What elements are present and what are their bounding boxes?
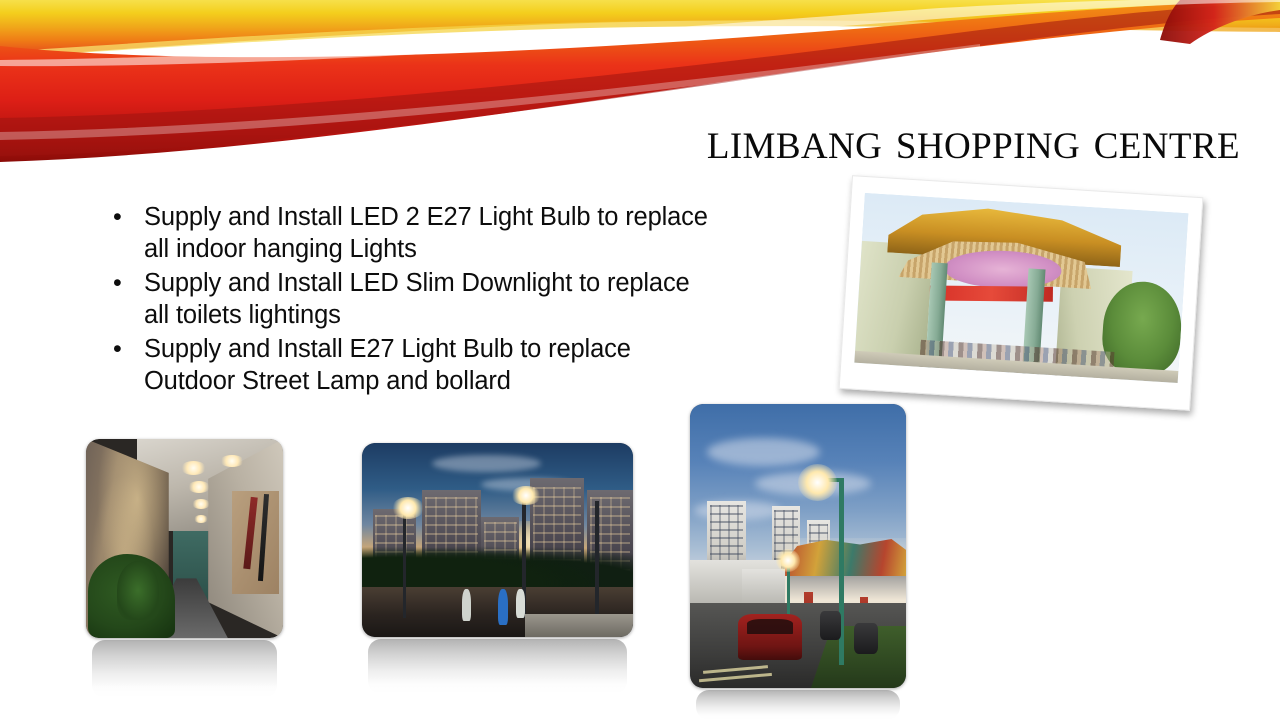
bullet-marker: •	[113, 267, 122, 299]
ceiling-downlight	[181, 461, 207, 475]
street-lamp-light	[392, 497, 425, 518]
pallet-stack	[525, 614, 633, 637]
temple-roof	[785, 538, 906, 577]
page-title: Limbang Shopping Centre	[440, 112, 1240, 170]
indoor-corridor-photo	[86, 439, 283, 638]
low-rise-building	[742, 569, 790, 606]
street-temple-image	[690, 404, 906, 688]
ceiling-downlight	[188, 481, 210, 493]
bullet-marker: •	[113, 201, 122, 233]
bullet-list: • Supply and Install LED 2 E27 Light Bul…	[104, 201, 714, 398]
street-temple-photo	[690, 404, 906, 688]
list-item: • Supply and Install E27 Light Bulb to r…	[104, 333, 714, 398]
street-lamp-post	[403, 505, 407, 618]
ceiling-downlight	[194, 515, 208, 523]
ceiling-downlight	[220, 455, 244, 467]
red-car	[738, 614, 803, 659]
motorcycle	[820, 611, 842, 639]
street-lamp-post	[595, 501, 599, 617]
indoor-corridor-image	[86, 439, 283, 638]
mall-entrance-photo	[839, 175, 1204, 411]
motorcycle	[854, 623, 878, 654]
wall-artwork	[232, 491, 279, 594]
street-hdb-image	[362, 443, 633, 637]
mall-entrance-image	[854, 193, 1188, 383]
indoor-corridor-photo-reflection	[92, 640, 277, 698]
street-temple-photo-reflection	[696, 690, 900, 720]
pedestrian	[462, 589, 471, 622]
bullet-marker: •	[113, 333, 122, 365]
slide: Limbang Shopping Centre • Supply and Ins…	[0, 0, 1280, 720]
list-item-text: Supply and Install LED Slim Downlight to…	[144, 269, 690, 329]
pedestrian	[498, 589, 508, 626]
list-item: • Supply and Install LED Slim Downlight …	[104, 267, 714, 332]
cloud	[432, 455, 540, 472]
street-lamp-light	[511, 486, 541, 505]
street-lamp-light	[798, 464, 837, 501]
list-item-text: Supply and Install LED 2 E27 Light Bulb …	[144, 203, 708, 263]
street-hdb-photo-reflection	[368, 639, 627, 694]
ceiling-downlight	[192, 499, 210, 509]
list-item: • Supply and Install LED 2 E27 Light Bul…	[104, 201, 714, 266]
list-item-text: Supply and Install E27 Light Bulb to rep…	[144, 335, 631, 395]
street-lamp-light	[776, 549, 800, 572]
street-hdb-photo	[362, 443, 633, 637]
